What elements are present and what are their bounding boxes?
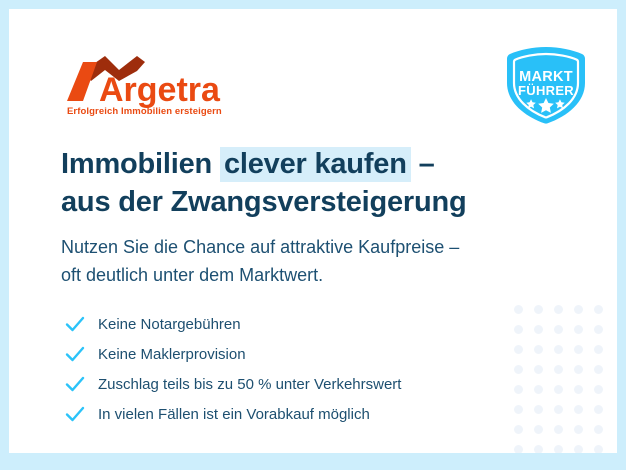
subheading-line-1: Nutzen Sie die Chance auf attraktive Kau…	[61, 233, 459, 261]
dot	[534, 385, 543, 394]
dot	[554, 345, 563, 354]
dot	[554, 425, 563, 434]
dot	[534, 405, 543, 414]
dot	[514, 325, 523, 334]
dot	[574, 445, 583, 454]
dot	[534, 305, 543, 314]
dot	[594, 305, 603, 314]
headline-highlight: clever kaufen	[220, 147, 411, 182]
dot	[514, 365, 523, 374]
headline-part-1: Immobilien	[61, 148, 220, 180]
dot	[574, 325, 583, 334]
dot	[594, 345, 603, 354]
check-icon	[64, 373, 86, 395]
dot	[514, 345, 523, 354]
ad-banner-frame: Argetra Erfolgreich Immobilien ersteiger…	[0, 0, 626, 470]
dot	[554, 305, 563, 314]
list-item: Keine Notargebühren	[64, 309, 401, 339]
list-item-label: Keine Maklerprovision	[98, 346, 246, 363]
list-item-label: Keine Notargebühren	[98, 316, 241, 333]
svg-text:Argetra: Argetra	[99, 71, 221, 109]
dot	[514, 445, 523, 454]
dot	[534, 365, 543, 374]
dot	[574, 405, 583, 414]
list-item-label: Zuschlag teils bis zu 50 % unter Verkehr…	[98, 376, 401, 393]
list-item: Zuschlag teils bis zu 50 % unter Verkehr…	[64, 369, 401, 399]
subheading-line-2: oft deutlich unter dem Marktwert.	[61, 261, 459, 289]
dot	[554, 325, 563, 334]
dot	[554, 365, 563, 374]
dot	[534, 325, 543, 334]
dot	[574, 365, 583, 374]
dot	[574, 425, 583, 434]
dot	[534, 345, 543, 354]
headline-line-2: aus der Zwangsversteigerung	[61, 183, 467, 221]
headline-line-1: Immobilien clever kaufen –	[61, 145, 467, 183]
list-item: In vielen Fällen ist ein Vorabkauf mögli…	[64, 399, 401, 429]
dot	[594, 365, 603, 374]
svg-text:FÜHRER: FÜHRER	[518, 83, 574, 98]
dot	[554, 385, 563, 394]
dot	[514, 425, 523, 434]
dot	[534, 425, 543, 434]
dot	[554, 405, 563, 414]
list-item-label: In vielen Fällen ist ein Vorabkauf mögli…	[98, 406, 370, 423]
benefits-list: Keine Notargebühren Keine Maklerprovisio…	[64, 309, 401, 429]
list-item: Keine Maklerprovision	[64, 339, 401, 369]
dot	[594, 325, 603, 334]
dot	[594, 445, 603, 454]
dot	[514, 385, 523, 394]
argetra-logo[interactable]: Argetra Erfolgreich Immobilien ersteiger…	[61, 53, 261, 119]
dot	[594, 425, 603, 434]
dot	[554, 445, 563, 454]
dot	[534, 445, 543, 454]
svg-text:Erfolgreich Immobilien ersteig: Erfolgreich Immobilien ersteigern	[67, 106, 222, 117]
markt-fuehrer-badge: MARKT FÜHRER	[503, 45, 589, 125]
dot	[594, 405, 603, 414]
ad-canvas: Argetra Erfolgreich Immobilien ersteiger…	[9, 9, 617, 453]
subheading: Nutzen Sie die Chance auf attraktive Kau…	[61, 233, 459, 289]
check-icon	[64, 343, 86, 365]
check-icon	[64, 403, 86, 425]
dot	[574, 345, 583, 354]
headline-part-2: –	[411, 148, 435, 180]
decorative-dot-grid	[508, 299, 608, 453]
dot	[514, 405, 523, 414]
page-title: Immobilien clever kaufen – aus der Zwang…	[61, 145, 467, 221]
dot	[574, 305, 583, 314]
check-icon	[64, 313, 86, 335]
dot	[574, 385, 583, 394]
dot	[514, 305, 523, 314]
dot	[594, 385, 603, 394]
